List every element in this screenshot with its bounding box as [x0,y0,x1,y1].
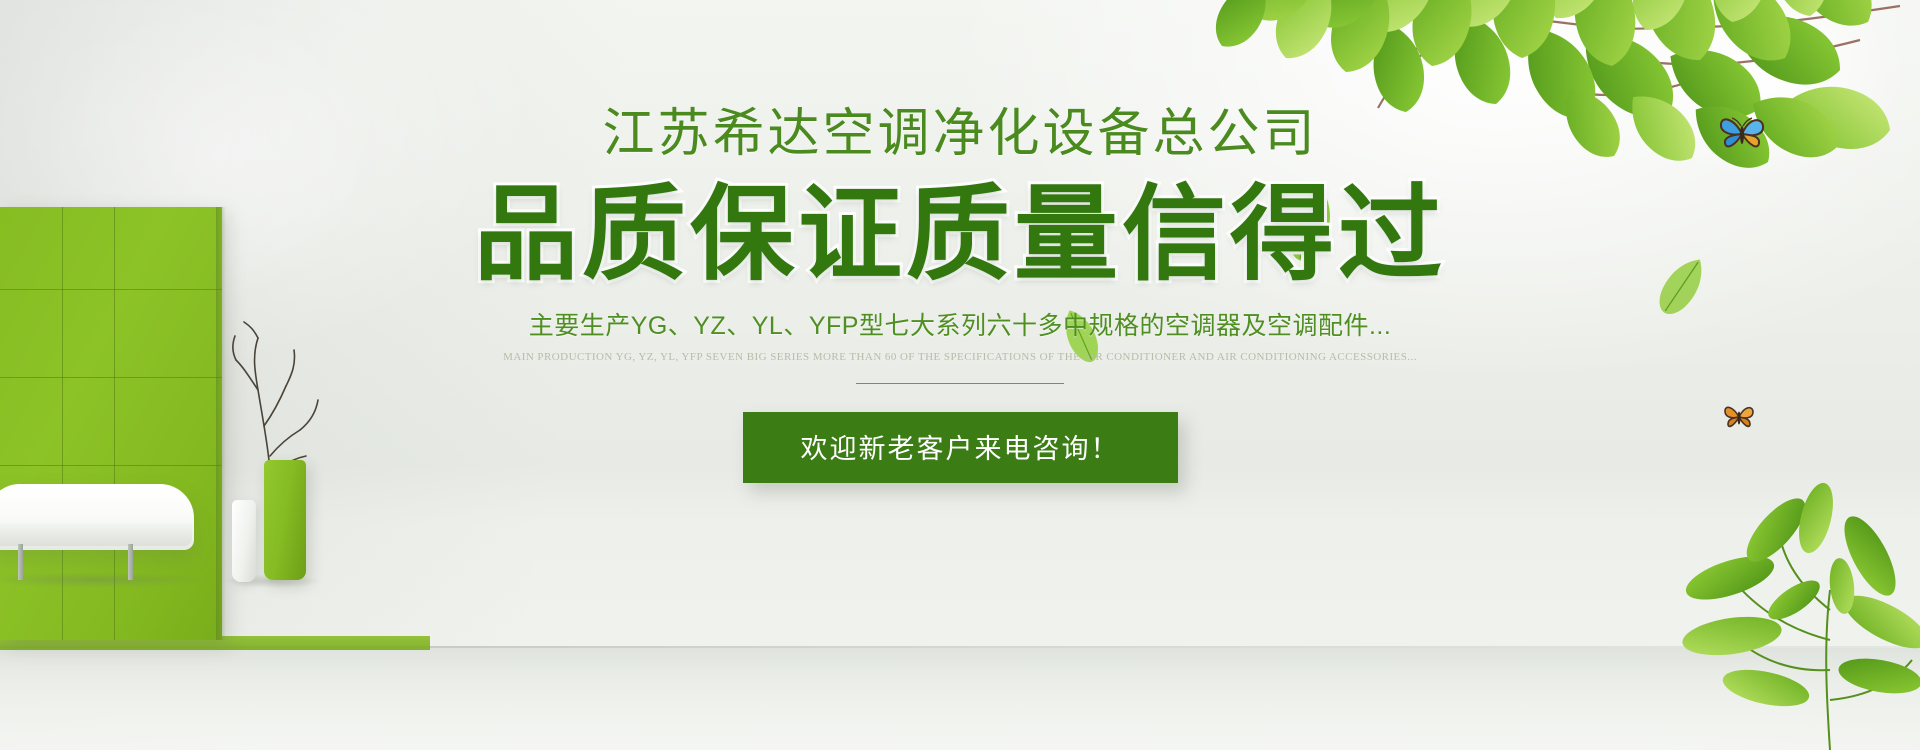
subtitle-chinese: 主要生产YG、YZ、YL、YFP型七大系列六十多中规格的空调器及空调配件... [529,314,1392,339]
hero-banner: 江苏希达空调净化设备总公司 品质保证质量信得过 主要生产YG、YZ、YL、YFP… [0,0,1920,750]
subtitle-english: MAIN PRODUCTION YG, YZ, YL, YFP SEVEN BI… [503,352,1417,363]
divider [856,383,1064,384]
banner-content: 江苏希达空调净化设备总公司 品质保证质量信得过 主要生产YG、YZ、YL、YFP… [0,0,1920,750]
company-name: 江苏希达空调净化设备总公司 [602,108,1317,160]
headline: 品质保证质量信得过 [474,182,1446,288]
contact-cta-button[interactable]: 欢迎新老客户来电咨询！ [743,412,1178,483]
